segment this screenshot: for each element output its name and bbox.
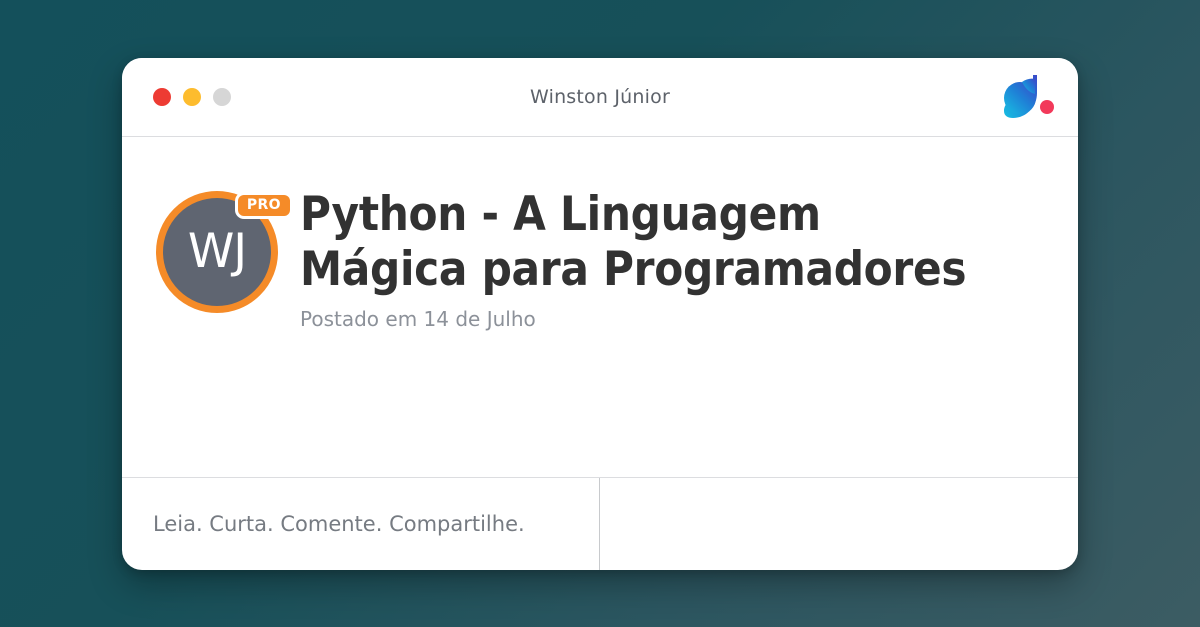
- window-footer: Leia. Curta. Comente. Compartilhe.: [122, 477, 1078, 570]
- footer-right-cell: [600, 478, 1078, 570]
- avatar[interactable]: WJ PRO: [156, 191, 278, 313]
- pro-badge: PRO: [238, 195, 290, 216]
- post-text-block: Python - A Linguagem Mágica para Program…: [300, 185, 1044, 331]
- window-title: Winston Júnior: [122, 86, 1078, 108]
- browser-window-card: Winston Júnior: [122, 58, 1078, 570]
- footer-tagline: Leia. Curta. Comente. Compartilhe.: [153, 512, 525, 536]
- footer-left-cell: Leia. Curta. Comente. Compartilhe.: [122, 478, 600, 570]
- screenshot-stage: Winston Júnior: [0, 0, 1200, 627]
- droplet-logo-icon: [1002, 74, 1056, 120]
- post-content-area: WJ PRO Python - A Linguagem Mágica para …: [122, 137, 1078, 477]
- post-date: Postado em 14 de Julho: [300, 307, 1044, 331]
- avatar-initials: WJ: [188, 228, 246, 275]
- window-titlebar: Winston Júnior: [122, 58, 1078, 137]
- page-title: Python - A Linguagem Mágica para Program…: [300, 187, 1000, 297]
